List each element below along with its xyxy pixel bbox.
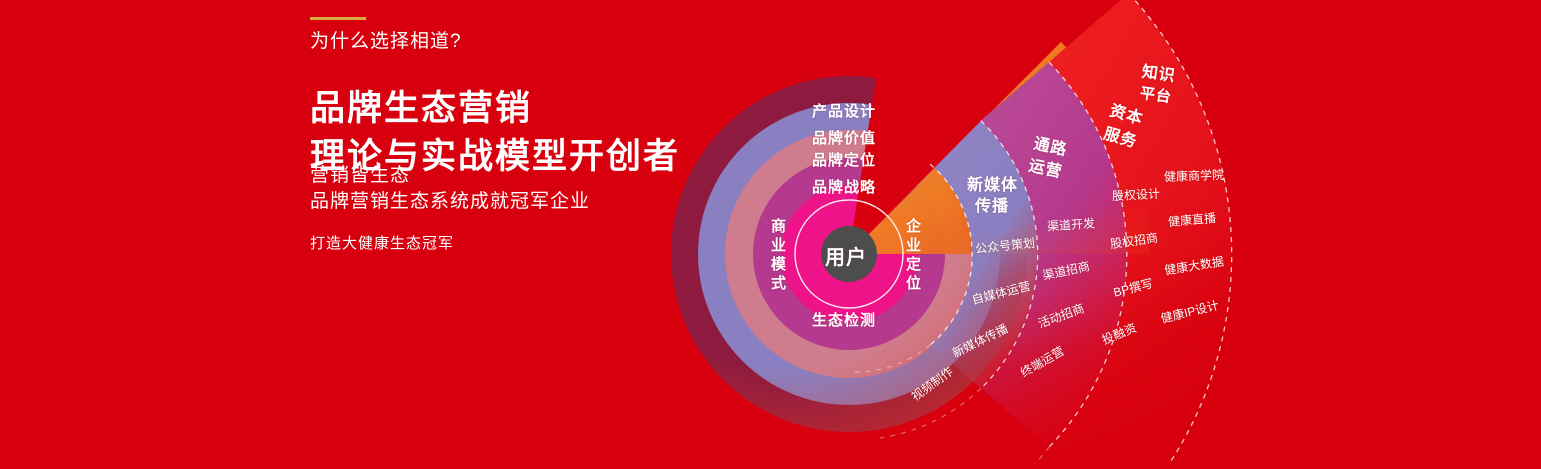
eyebrow-text: 为什么选择相道?	[310, 26, 462, 53]
headline-line-1: 品牌生态营销	[310, 85, 532, 133]
subline-2: 品牌营销生态系统成就冠军企业	[310, 186, 590, 213]
subline-1: 营销皆生态	[310, 160, 410, 187]
tagline: 打造大健康生态冠军	[310, 232, 454, 253]
banner-stage: 用户 企业定位 商业模式 产品设计 品牌价值 品牌定位 品牌战略 生态检测 新媒…	[0, 0, 1541, 464]
gold-rule-divider	[310, 17, 366, 20]
hero-copy: 为什么选择相道? 品牌生态营销 理论与实战模型开创者 营销皆生态 品牌营销生态系…	[310, 0, 930, 464]
